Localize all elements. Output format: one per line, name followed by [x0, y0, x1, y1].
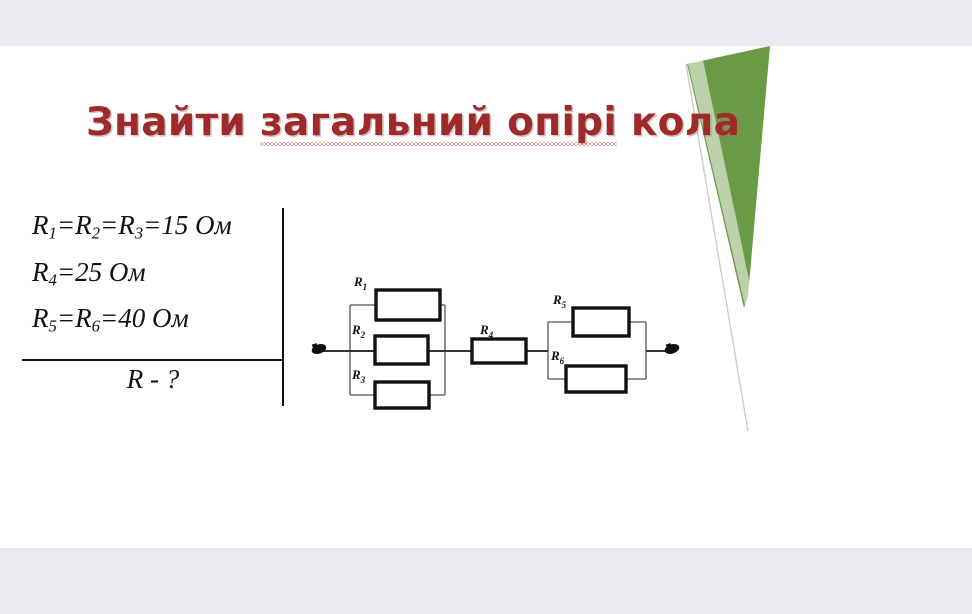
- given-symbol: R: [32, 210, 49, 240]
- unknown-answer: R - ?: [22, 364, 284, 395]
- given-subscript: 4: [49, 270, 57, 289]
- given-values-block: R1=R2=R3=15 Ом R4=25 Ом R5=R6=40 Ом: [22, 206, 284, 346]
- resistor-R2-body: [375, 336, 428, 364]
- given-subscript: 2: [92, 224, 100, 243]
- given-subscript: 5: [49, 317, 57, 336]
- slide-canvas: Знайтизагальний опірі кола R1=R2=R3=15 О…: [0, 0, 972, 614]
- given-value: =40: [100, 303, 152, 333]
- resistor-R5-label: R5: [552, 292, 567, 310]
- slide-content-area: Знайтизагальний опірі кола R1=R2=R3=15 О…: [0, 46, 972, 548]
- title-part-1: Знайти: [86, 100, 246, 145]
- resistor-R3-label: R3: [351, 367, 366, 385]
- resistor-R5-body: [573, 308, 629, 336]
- given-unit: Ом: [109, 257, 146, 287]
- given-unit: Ом: [195, 210, 232, 240]
- given-subscript: 1: [49, 224, 57, 243]
- resistor-R4-body: [472, 339, 526, 363]
- given-symbol: R: [32, 303, 49, 333]
- resistor-R6-body: [566, 366, 626, 392]
- letterbox-bottom: [0, 548, 972, 614]
- resistor-R1-label: R1: [353, 274, 367, 292]
- given-divider-rule: [22, 359, 284, 361]
- resistor-R4-label: R4: [479, 322, 494, 340]
- title-part-3: кола: [631, 100, 740, 145]
- given-vertical-divider: [282, 208, 284, 406]
- circuit-diagram: R1 R2 R3 R4 R5 R6: [300, 232, 700, 412]
- given-value: =25: [57, 257, 109, 287]
- given-subscript: 6: [92, 317, 100, 336]
- given-line-3: R5=R6=40 Ом: [22, 299, 284, 346]
- title-part-2-misspelled: загальний опірі: [260, 100, 617, 145]
- given-line-1: R1=R2=R3=15 Ом: [22, 206, 284, 253]
- resistor-R3-body: [375, 382, 429, 408]
- resistor-R6-label: R6: [550, 348, 565, 366]
- given-value: =15: [143, 210, 195, 240]
- given-line-2: R4=25 Ом: [22, 253, 284, 300]
- given-eq: =R: [57, 210, 92, 240]
- resistor-R2-label: R2: [351, 322, 366, 340]
- terminal-left: [310, 342, 327, 355]
- given-subscript: 3: [135, 224, 143, 243]
- resistor-R1-body: [376, 290, 440, 320]
- letterbox-top: [0, 0, 972, 46]
- given-unit: Ом: [152, 303, 189, 333]
- given-symbol: R: [32, 257, 49, 287]
- given-eq: =R: [57, 303, 92, 333]
- terminal-right: [663, 342, 680, 355]
- page-title: Знайтизагальний опірі кола: [86, 100, 706, 145]
- resistor-bodies: [375, 290, 629, 408]
- given-eq: =R: [100, 210, 135, 240]
